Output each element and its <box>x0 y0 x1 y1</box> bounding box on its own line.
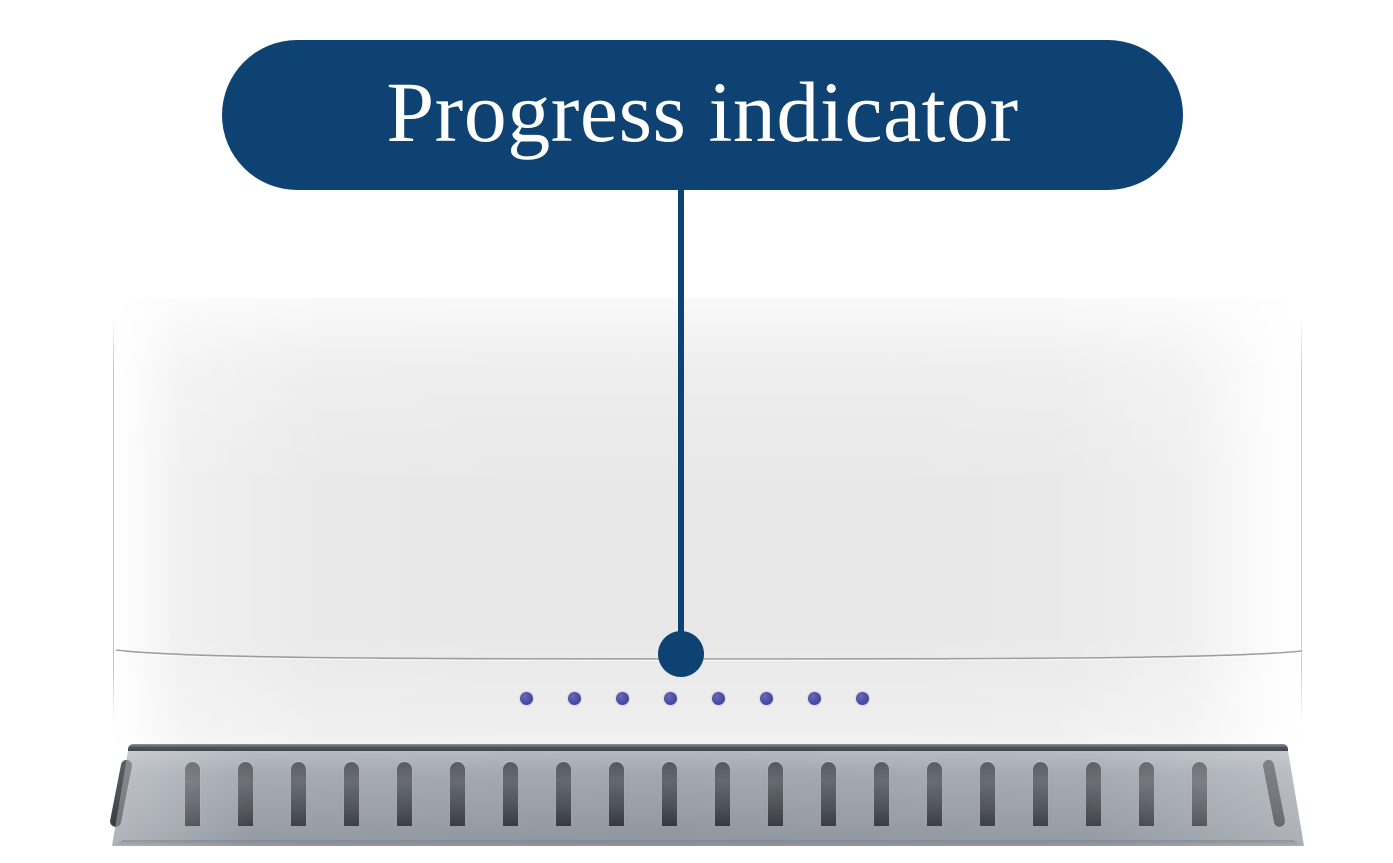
vent-slot <box>715 762 730 826</box>
vent-slot <box>397 762 412 826</box>
vent-slot <box>768 762 783 826</box>
device-base <box>0 736 1393 863</box>
vent-slot <box>503 762 518 826</box>
progress-led-5 <box>712 692 725 705</box>
vent-slot <box>450 762 465 826</box>
vent-slot <box>238 762 253 826</box>
progress-led-2 <box>568 692 581 705</box>
device-shell-upper <box>113 298 1302 750</box>
image-background-floor <box>0 846 1393 863</box>
callout-pill[interactable]: Progress indicator <box>222 40 1183 190</box>
vent-slot <box>662 762 677 826</box>
device-panel-seam <box>116 646 1302 662</box>
vent-slot <box>291 762 306 826</box>
progress-led-1 <box>520 692 533 705</box>
progress-led-3 <box>616 692 629 705</box>
vent-slot <box>1033 762 1048 826</box>
device-edge-right <box>1301 318 1302 726</box>
vent-slot <box>556 762 571 826</box>
progress-led-8 <box>856 692 869 705</box>
vent-slot <box>344 762 359 826</box>
vent-slot <box>185 762 200 826</box>
device-edge-left <box>113 318 114 726</box>
vent-slot <box>1192 762 1207 826</box>
progress-indicator-led-strip[interactable] <box>520 692 884 708</box>
vent-slot <box>980 762 995 826</box>
callout-leader-dot <box>658 631 704 677</box>
vent-slot <box>927 762 942 826</box>
progress-led-6 <box>760 692 773 705</box>
vent-slot <box>821 762 836 826</box>
callout-label: Progress indicator <box>386 69 1018 161</box>
progress-led-7 <box>808 692 821 705</box>
progress-led-4 <box>664 692 677 705</box>
vent-slot <box>1139 762 1154 826</box>
screenshot-canvas: Progress indicator <box>0 0 1393 863</box>
vent-slot <box>609 762 624 826</box>
callout-leader-line <box>678 185 684 657</box>
vent-slot <box>874 762 889 826</box>
vent-slot <box>1086 762 1101 826</box>
